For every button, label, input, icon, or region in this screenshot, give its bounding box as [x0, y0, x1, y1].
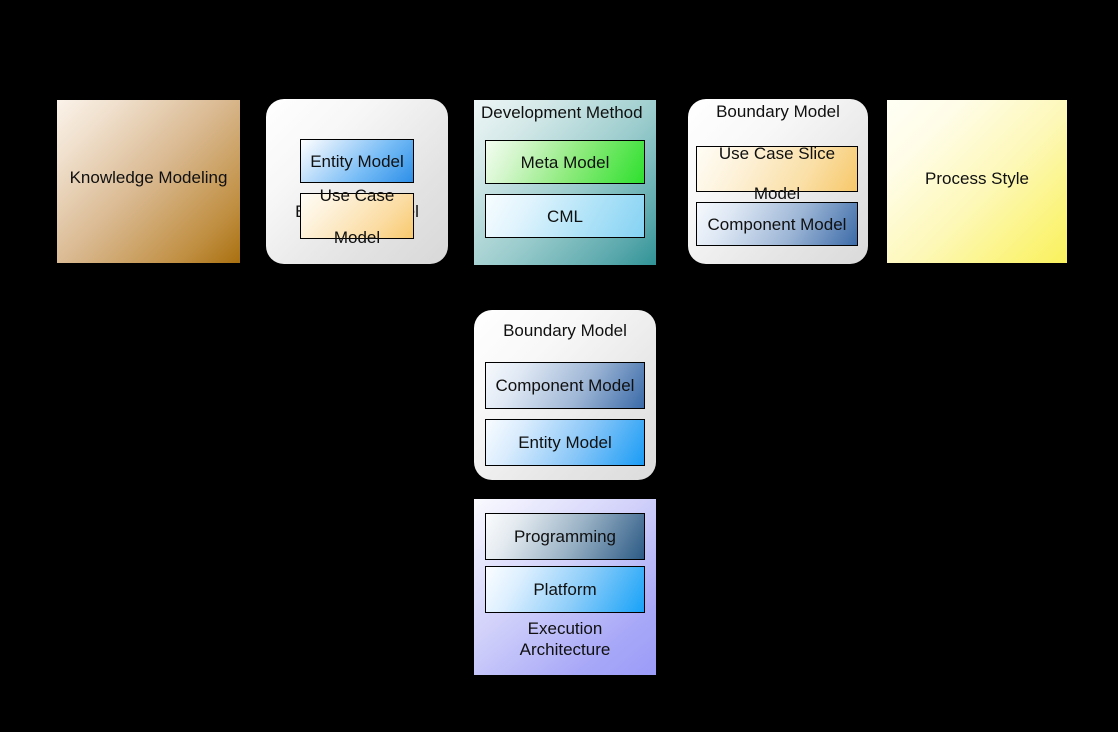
chip-component-model-2[interactable]: Component Model [485, 362, 645, 409]
node-execution-architecture[interactable]: Programming Platform Execution Architect… [474, 499, 656, 675]
chip-label-entity-model-1: Entity Model [310, 151, 404, 172]
node-label-execution-architecture-line2: Architecture [520, 640, 611, 659]
chip-label-component-model-1: Component Model [708, 214, 847, 235]
chip-cml[interactable]: CML [485, 194, 645, 238]
chip-platform[interactable]: Platform [485, 566, 645, 613]
chip-entity-model-2[interactable]: Entity Model [485, 419, 645, 466]
chip-label-cml: CML [547, 206, 583, 227]
chip-use-case-model-1[interactable]: Use Case Model [300, 193, 414, 239]
chip-label-programming: Programming [514, 526, 616, 547]
chip-entity-model-1[interactable]: Entity Model [300, 139, 414, 183]
chip-label-meta-model: Meta Model [521, 152, 610, 173]
node-boundary-model-2[interactable]: Boundary Model Use Case Slice Model Comp… [688, 99, 868, 264]
node-knowledge-modeling[interactable]: Knowledge Modeling [57, 100, 240, 263]
node-label-execution-architecture: Execution Architecture [474, 618, 656, 660]
chip-label-entity-model-2: Entity Model [518, 432, 612, 453]
chip-label-platform: Platform [533, 579, 596, 600]
chip-component-model-1[interactable]: Component Model [696, 202, 858, 246]
chip-label-use-case-slice-line2: Model [719, 183, 835, 204]
chip-label-component-model-2: Component Model [496, 375, 635, 396]
node-title-boundary-model-3: Boundary Model [474, 321, 656, 341]
node-title-development-method: Development Method [474, 103, 656, 123]
chip-meta-model[interactable]: Meta Model [485, 140, 645, 184]
chip-use-case-slice-model[interactable]: Use Case Slice Model [696, 146, 858, 192]
node-boundary-model-1[interactable]: Boundary Model Entity Model Use Case Mod… [266, 99, 448, 264]
chip-programming[interactable]: Programming [485, 513, 645, 560]
node-label-knowledge-modeling: Knowledge Modeling [57, 167, 240, 188]
node-label-process-style: Process Style [887, 168, 1067, 189]
node-boundary-model-3[interactable]: Boundary Model Component Model Entity Mo… [474, 310, 656, 480]
chip-label-use-case-slice-line1: Use Case Slice [719, 143, 835, 164]
node-process-style[interactable]: Process Style [887, 100, 1067, 263]
diagram-canvas: Knowledge Modeling Boundary Model Entity… [0, 0, 1118, 732]
node-title-boundary-model-2: Boundary Model [688, 102, 868, 122]
node-development-method[interactable]: Development Method Meta Model CML [474, 100, 656, 265]
chip-label-use-case-model-line1: Use Case [320, 185, 395, 206]
node-label-execution-architecture-line1: Execution [528, 619, 603, 638]
chip-label-use-case-model-line2: Model [320, 227, 395, 248]
